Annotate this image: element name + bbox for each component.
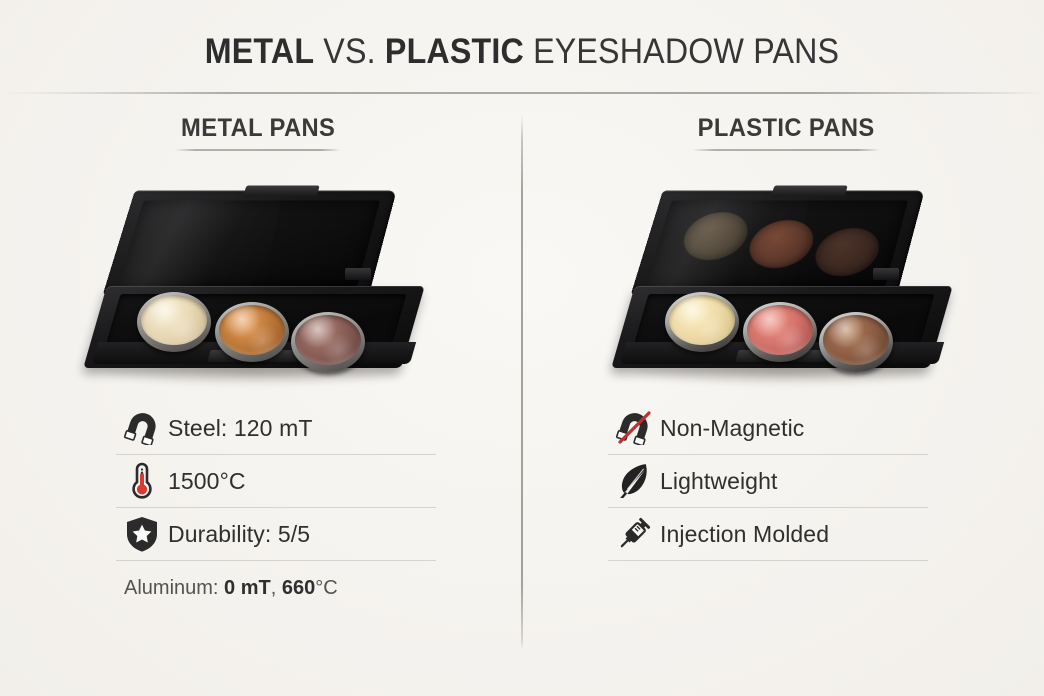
stat-label-durability: Durability: 5/5 <box>168 521 310 548</box>
magnet-icon <box>116 406 168 450</box>
hinge-right <box>873 268 899 280</box>
pan-powder <box>141 295 207 345</box>
title-vs: VS. <box>314 32 385 71</box>
footnote-suffix: °C <box>315 577 337 599</box>
plastic-palette-image <box>536 176 1036 396</box>
title-divider <box>0 92 1044 94</box>
title-tail: EYESHADOW PANS <box>524 32 839 71</box>
pan-powder <box>823 315 889 365</box>
metal-pan-2 <box>215 302 289 362</box>
metal-heading-wrap: METAL PANS <box>8 114 508 170</box>
pan-shimmer <box>669 295 735 345</box>
pan-powder <box>295 315 361 365</box>
pan-shimmer <box>823 315 889 365</box>
plastic-palette <box>621 182 951 392</box>
pan-powder <box>747 305 813 355</box>
title-area: METAL VS. PLASTIC EYESHADOW PANS <box>0 32 1044 72</box>
infographic-page: METAL VS. PLASTIC EYESHADOW PANS METAL P… <box>0 0 1044 696</box>
metal-pan-1 <box>137 292 211 352</box>
metal-stats-list: Steel: 120 mT 1500°C <box>116 402 436 600</box>
stat-label-injection-molded: Injection Molded <box>660 521 829 548</box>
pan-shimmer <box>295 315 361 365</box>
lid-mirror <box>645 200 908 286</box>
plastic-heading: PLASTIC PANS <box>698 114 875 151</box>
plastic-heading-wrap: PLASTIC PANS <box>536 114 1036 170</box>
syringe-icon <box>608 512 660 556</box>
footnote-prefix: Aluminum: <box>124 577 224 599</box>
title-word-metal: METAL <box>205 32 314 71</box>
column-metal: METAL PANS <box>8 114 508 674</box>
metal-pan-3 <box>291 312 365 372</box>
plastic-pan-2 <box>743 302 817 362</box>
pan-powder <box>219 305 285 355</box>
pan-shimmer <box>747 305 813 355</box>
lid-sheen <box>645 200 815 286</box>
page-title: METAL VS. PLASTIC EYESHADOW PANS <box>42 32 1002 72</box>
stat-label-steel: Steel: 120 mT <box>168 415 312 442</box>
pan-shimmer <box>141 295 207 345</box>
magnet-slashed-icon <box>608 406 660 450</box>
lid-sheen <box>117 200 287 286</box>
thermometer-icon <box>116 459 168 503</box>
metal-palette <box>93 182 423 392</box>
stat-label-temperature: 1500°C <box>168 468 246 495</box>
metal-heading: METAL PANS <box>181 114 335 151</box>
shield-star-icon <box>116 512 168 556</box>
column-divider <box>521 114 523 650</box>
column-plastic: PLASTIC PANS <box>536 114 1036 674</box>
lid-clip <box>771 186 847 197</box>
feather-icon <box>608 459 660 503</box>
title-word-plastic: PLASTIC <box>385 32 524 71</box>
stat-label-lightweight: Lightweight <box>660 468 777 495</box>
pan-powder <box>669 295 735 345</box>
stat-row-injection-molded: Injection Molded <box>608 508 928 561</box>
stat-row-durability: Durability: 5/5 <box>116 508 436 561</box>
footnote-separator: , <box>271 577 282 599</box>
footnote-value-temp: 660 <box>282 577 315 599</box>
stat-row-temperature: 1500°C <box>116 455 436 508</box>
metal-palette-image <box>8 176 508 396</box>
plastic-pan-1 <box>665 292 739 352</box>
metal-footnote: Aluminum: 0 mT, 660°C <box>116 577 436 600</box>
footnote-value-mt: 0 mT <box>224 577 271 599</box>
lid-clip <box>243 186 319 197</box>
plastic-pan-3 <box>819 312 893 372</box>
hinge-right <box>345 268 371 280</box>
pan-shimmer <box>219 305 285 355</box>
stat-row-steel: Steel: 120 mT <box>116 402 436 455</box>
stat-row-non-magnetic: Non-Magnetic <box>608 402 928 455</box>
lid-mirror <box>117 200 380 286</box>
stat-row-lightweight: Lightweight <box>608 455 928 508</box>
plastic-stats-list: Non-Magnetic Lightweight <box>608 402 928 561</box>
stat-label-non-magnetic: Non-Magnetic <box>660 415 804 442</box>
